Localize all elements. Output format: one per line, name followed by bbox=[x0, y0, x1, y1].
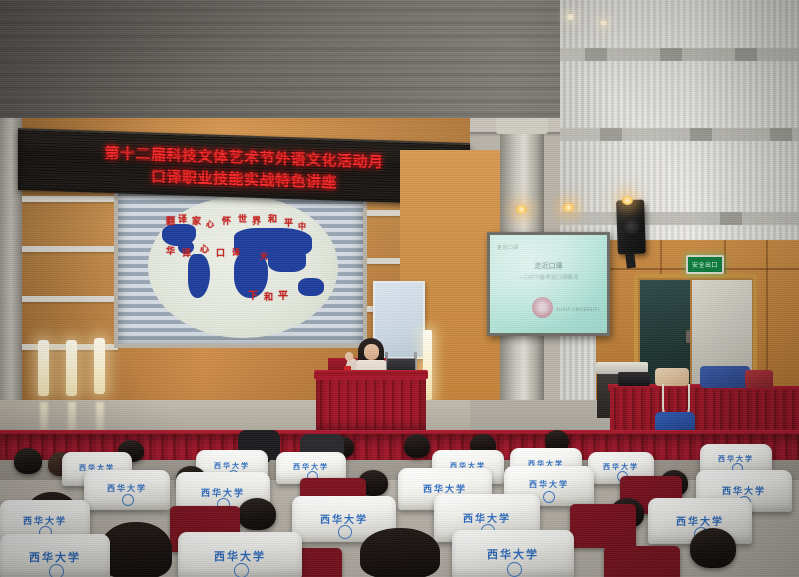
seat[interactable] bbox=[570, 504, 636, 548]
university-seal-icon bbox=[338, 525, 352, 539]
audience-head bbox=[14, 448, 42, 474]
chair-cover-logo-text: 西华大学 bbox=[178, 548, 302, 564]
wall-stripe bbox=[22, 246, 118, 252]
wall-block bbox=[585, 48, 607, 61]
world-map-mural: 翻 译 家 心 怀 世 界 和 平 中 华 译 心 口 译 天 下 和 平 bbox=[148, 196, 338, 338]
calligraphy-char: 世 bbox=[238, 216, 247, 225]
audience-head bbox=[690, 528, 736, 568]
chair-cover-logo-text: 西华大学 bbox=[0, 549, 110, 565]
red-bag bbox=[745, 370, 773, 388]
chair-cover-logo-text: 西华大学 bbox=[648, 513, 752, 528]
wall-stripe bbox=[22, 296, 118, 302]
chair-cover: 西华大学 bbox=[84, 470, 170, 510]
audience-hair bbox=[100, 522, 172, 577]
wall-sconce-light bbox=[94, 338, 105, 394]
wall-block bbox=[690, 128, 712, 141]
wall-sconce-light bbox=[38, 340, 49, 396]
continent-asia bbox=[268, 248, 306, 272]
university-seal-icon bbox=[122, 494, 134, 506]
calligraphy-char: 译 bbox=[182, 250, 191, 259]
calligraphy-char: 译 bbox=[178, 216, 187, 225]
continent-south-america bbox=[188, 254, 210, 298]
wall-block bbox=[600, 128, 622, 141]
wall-band bbox=[560, 212, 799, 225]
blue-jacket bbox=[700, 366, 750, 388]
chair-cover-logo-text: 西华大学 bbox=[434, 510, 540, 525]
speaker-hand bbox=[345, 352, 353, 361]
university-seal-icon bbox=[543, 491, 555, 503]
wall-block bbox=[735, 48, 757, 61]
chair-cover-logo-text: 西华大学 bbox=[292, 511, 396, 526]
wood-seam bbox=[660, 240, 662, 274]
audience-hair bbox=[360, 528, 440, 577]
exit-sign: 安全出口 bbox=[686, 255, 724, 274]
wall-block bbox=[720, 212, 742, 225]
ceiling-light-icon bbox=[563, 203, 574, 212]
calligraphy-char: 中 bbox=[298, 222, 306, 230]
calligraphy-char: 口 bbox=[216, 250, 225, 259]
calligraphy-char: 下 bbox=[248, 292, 258, 302]
calligraphy-char: 译 bbox=[232, 248, 240, 256]
ceiling-light-icon bbox=[567, 14, 574, 20]
wall-stripe bbox=[22, 196, 118, 202]
continent-australia bbox=[298, 278, 324, 296]
wall-block bbox=[660, 48, 682, 61]
calligraphy-char: 心 bbox=[200, 246, 209, 255]
calligraphy-char: 界 bbox=[252, 218, 261, 227]
chair-cover: 西华大学 bbox=[178, 532, 302, 577]
calligraphy-char: 天 bbox=[260, 252, 268, 260]
audience-head bbox=[404, 434, 430, 458]
chair-cover: 西华大学 bbox=[452, 530, 574, 577]
calligraphy-char: 平 bbox=[284, 220, 293, 229]
speaker-face bbox=[364, 344, 379, 360]
chair-cover: 西华大学 bbox=[0, 534, 110, 577]
exit-sign-label: 安全出口 bbox=[692, 260, 718, 269]
audience-head bbox=[238, 498, 276, 530]
calligraphy-char: 怀 bbox=[222, 218, 231, 227]
calligraphy-char: 华 bbox=[166, 248, 175, 257]
speaker-cone-icon bbox=[623, 218, 639, 234]
calligraphy-char: 心 bbox=[206, 220, 214, 228]
calligraphy-char: 家 bbox=[192, 218, 201, 227]
speaker-bracket bbox=[625, 252, 636, 269]
door-handle[interactable] bbox=[686, 330, 690, 343]
screen-glare bbox=[490, 235, 607, 333]
university-seal-icon bbox=[507, 562, 522, 577]
calligraphy-char: 翻 bbox=[166, 218, 175, 227]
wood-seam bbox=[724, 240, 726, 274]
calligraphy-char: 平 bbox=[278, 292, 288, 302]
calligraphy-char: 和 bbox=[268, 216, 277, 225]
chair-cover-logo-text: 西华大学 bbox=[84, 483, 170, 494]
column-capital bbox=[496, 118, 548, 134]
university-seal-icon bbox=[49, 564, 64, 577]
wall-block bbox=[770, 128, 792, 141]
wall-band bbox=[560, 128, 799, 141]
auditorium-photo: 翻 译 家 心 怀 世 界 和 平 中 华 译 心 口 译 天 下 和 平 第十… bbox=[0, 0, 799, 577]
chair-cover-logo-text: 西华大学 bbox=[452, 546, 574, 562]
ceiling-light-icon bbox=[600, 20, 607, 26]
ceiling-light-icon bbox=[516, 205, 527, 214]
wall-sconce-light bbox=[66, 340, 77, 396]
head-table-skirt bbox=[316, 380, 426, 434]
black-equipment-case bbox=[618, 372, 650, 386]
calligraphy-char: 和 bbox=[264, 294, 273, 303]
ceiling-light-icon bbox=[622, 196, 633, 205]
seat[interactable] bbox=[604, 546, 680, 577]
university-seal-icon bbox=[234, 563, 249, 577]
chair-cover-logo-text: 西华大学 bbox=[504, 479, 594, 490]
